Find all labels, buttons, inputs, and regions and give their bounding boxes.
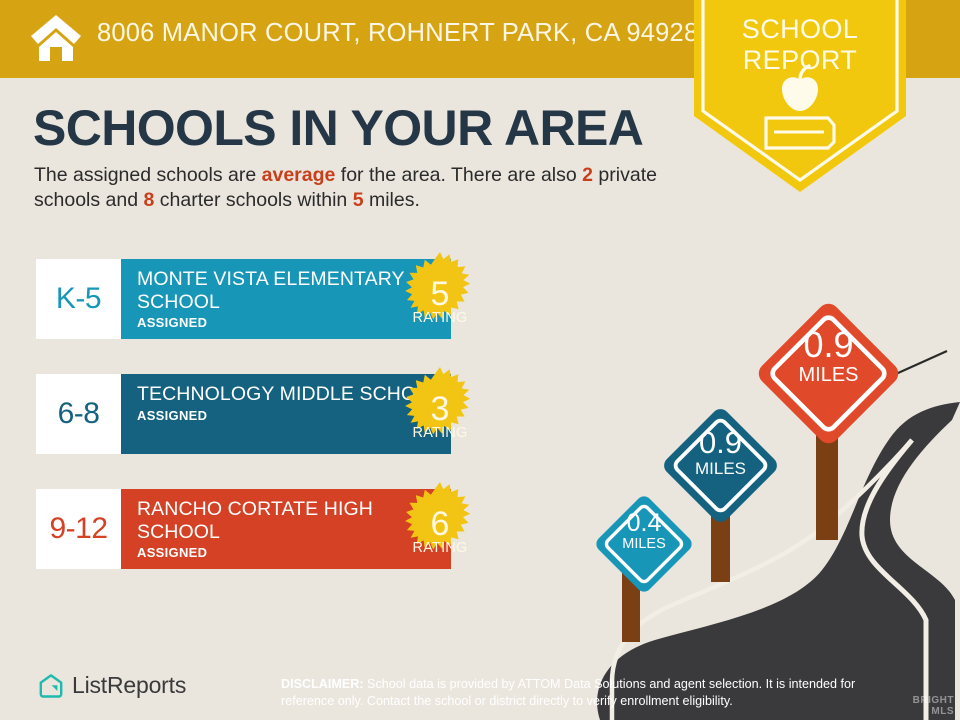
subtitle-part-5: miles. <box>364 189 420 211</box>
page-title: SCHOOLS IN YOUR AREA <box>33 100 643 156</box>
school-row[interactable]: K-5 MONTE VISTA ELEMENTARY SCHOOL ASSIGN… <box>36 259 528 339</box>
grade-label: 6-8 <box>58 397 100 431</box>
disclaimer-label: DISCLAIMER: <box>281 677 364 691</box>
grade-box: K-5 <box>36 259 121 339</box>
property-address: 8006 MANOR COURT, ROHNERT PARK, CA 94928 <box>97 19 698 48</box>
subtitle-part-1: The assigned schools are <box>34 164 262 186</box>
infographic-page: 0.4 MILES 0.9 MILES 0.9 MILES 8006 MANOR… <box>0 0 960 720</box>
grade-box: 9-12 <box>36 489 121 569</box>
grade-label: 9-12 <box>49 512 107 546</box>
disclaimer: DISCLAIMER: School data is provided by A… <box>281 676 901 709</box>
listreports-house-icon <box>38 673 64 699</box>
rating-starburst-icon <box>391 480 489 578</box>
house-icon <box>30 13 82 63</box>
school-report-badge <box>694 0 906 192</box>
subtitle-part-4: charter schools within <box>154 189 352 211</box>
distance-sign-3 <box>747 292 910 455</box>
grade-box: 6-8 <box>36 374 121 454</box>
subtitle-highlight-average: average <box>262 164 336 186</box>
school-row[interactable]: 9-12 RANCHO CORTATE HIGH SCHOOL ASSIGNED… <box>36 489 528 569</box>
watermark-line-1: BRIGHT <box>913 695 954 706</box>
school-row[interactable]: 6-8 TECHNOLOGY MIDDLE SCHOOL ASSIGNED 3 … <box>36 374 528 454</box>
rating-starburst-icon <box>391 365 489 463</box>
mls-watermark: BRIGHT MLS <box>913 695 954 717</box>
listreports-logo[interactable]: ListReports <box>38 672 186 699</box>
watermark-line-2: MLS <box>913 706 954 717</box>
disclaimer-text: School data is provided by ATTOM Data So… <box>281 677 855 708</box>
rating-starburst-icon <box>391 250 489 348</box>
subtitle-part-2: for the area. There are also <box>335 164 582 186</box>
subtitle-highlight-private-count: 2 <box>582 164 593 186</box>
page-subtitle: The assigned schools are average for the… <box>34 163 674 213</box>
grade-label: K-5 <box>56 282 101 316</box>
subtitle-highlight-radius: 5 <box>353 189 364 211</box>
subtitle-highlight-charter-count: 8 <box>144 189 155 211</box>
listreports-wordmark: ListReports <box>72 672 186 699</box>
